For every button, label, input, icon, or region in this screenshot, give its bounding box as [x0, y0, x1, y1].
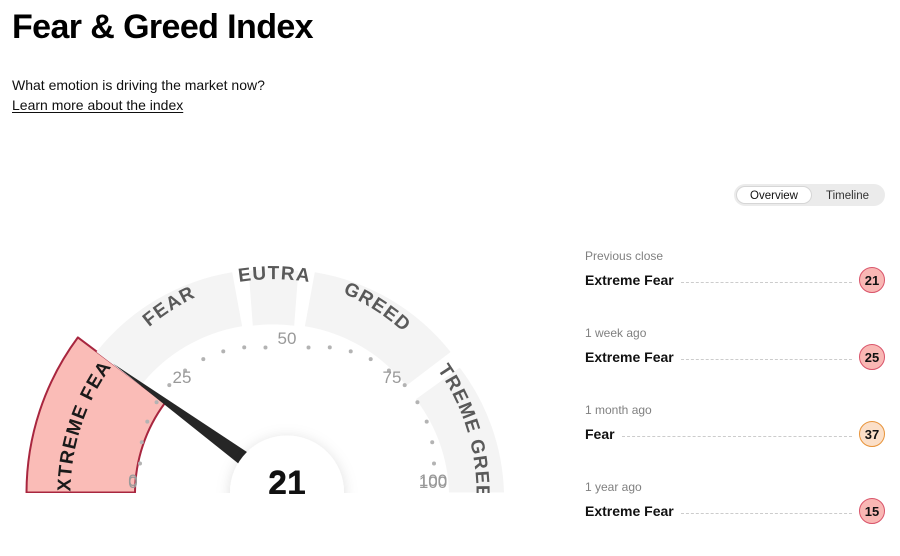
gauge-svg: EXTREME FEAR FEAR NEUTRAL GREED EXTREME …: [0, 196, 575, 526]
tick-label-100-v: 100: [419, 473, 447, 492]
history-list: Previous close Extreme Fear 21 1 week ag…: [585, 248, 885, 556]
view-toggle[interactable]: Overview Timeline: [734, 184, 885, 206]
history-rating: Fear: [585, 426, 615, 442]
history-row-1-month-ago[interactable]: 1 month ago Fear 37: [585, 402, 885, 479]
history-period: 1 year ago: [585, 479, 885, 495]
history-period: Previous close: [585, 248, 885, 264]
gauge-segment-greed: [305, 272, 451, 385]
history-row-1-week-ago[interactable]: 1 week ago Extreme Fear 25: [585, 325, 885, 402]
history-period: 1 week ago: [585, 325, 885, 341]
leader-dots: [681, 504, 852, 514]
tick-label-50: 50: [278, 329, 297, 348]
tick-label-25: 25: [173, 368, 192, 387]
leader-dots: [681, 273, 852, 283]
tick-label-0-v: 0: [128, 473, 137, 492]
tab-overview[interactable]: Overview: [736, 186, 812, 204]
learn-more-link[interactable]: Learn more about the index: [12, 95, 183, 115]
tick-label-75: 75: [383, 368, 402, 387]
leader-dots: [681, 350, 852, 360]
page-title: Fear & Greed Index: [12, 8, 572, 47]
tab-timeline[interactable]: Timeline: [812, 186, 883, 204]
leader-dots: [622, 427, 852, 437]
fear-greed-gauge: EXTREME FEAR FEAR NEUTRAL GREED EXTREME …: [0, 196, 575, 526]
gauge-value-visible: 21: [268, 464, 306, 502]
history-value-badge: 25: [859, 344, 885, 370]
history-row-previous-close[interactable]: Previous close Extreme Fear 21: [585, 248, 885, 325]
history-value-badge: 15: [859, 498, 885, 524]
page-header: Fear & Greed Index What emotion is drivi…: [12, 8, 572, 116]
page-subtitle: What emotion is driving the market now?: [12, 75, 572, 95]
history-rating: Extreme Fear: [585, 503, 674, 519]
segment-label-neutral: NEUTRAL: [0, 196, 312, 287]
history-rating: Extreme Fear: [585, 272, 674, 288]
history-rating: Extreme Fear: [585, 349, 674, 365]
history-value-badge: 37: [859, 421, 885, 447]
history-row-1-year-ago[interactable]: 1 year ago Extreme Fear 15: [585, 479, 885, 556]
history-period: 1 month ago: [585, 402, 885, 418]
history-value-badge: 21: [859, 267, 885, 293]
